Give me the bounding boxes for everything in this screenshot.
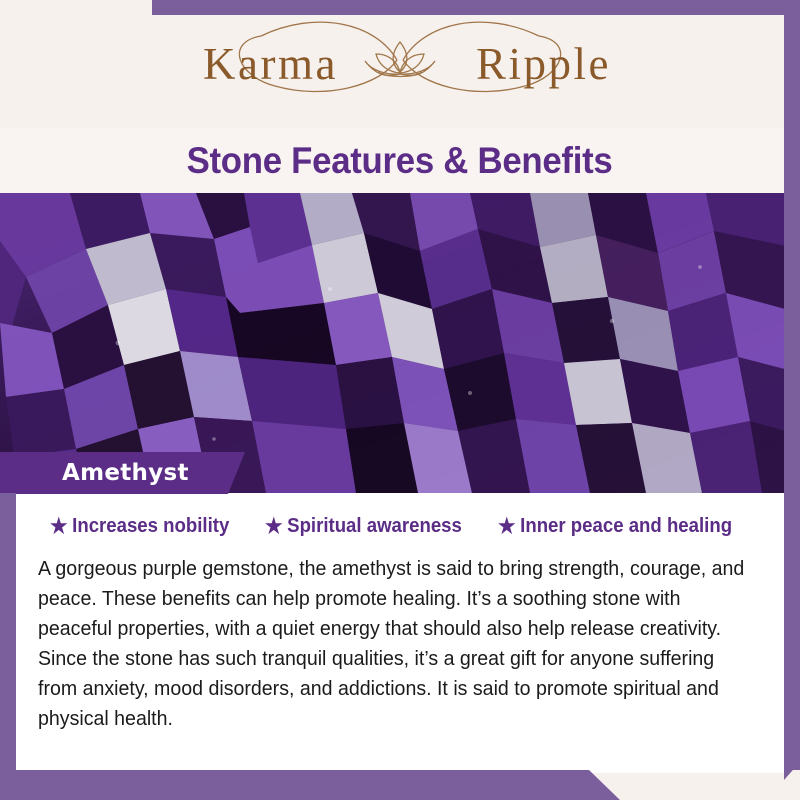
benefit-item-1: ★ Increases nobility xyxy=(50,515,229,538)
benefit-label-3: Inner peace and healing xyxy=(521,515,733,538)
benefit-item-3: ★ Inner peace and healing xyxy=(498,515,732,538)
brand-name-right: Ripple xyxy=(476,38,611,90)
stone-description: A gorgeous purple gemstone, the amethyst… xyxy=(38,554,757,734)
star-icon: ★ xyxy=(50,516,68,537)
frame-bottom-bar xyxy=(0,770,620,800)
stone-name-label: Amethyst xyxy=(62,460,189,486)
brand-logo: Karma Ripple xyxy=(0,0,800,128)
benefit-item-2: ★ Spiritual awareness xyxy=(265,515,462,538)
frame-right-bar xyxy=(784,0,800,770)
benefit-label-1: Increases nobility xyxy=(72,515,229,538)
benefit-label-2: Spiritual awareness xyxy=(287,515,462,538)
description-panel: ★ Increases nobility ★ Spiritual awarene… xyxy=(16,493,784,773)
brand-name-left: Karma xyxy=(203,38,338,90)
star-icon: ★ xyxy=(498,516,516,537)
star-icon: ★ xyxy=(265,516,283,537)
stone-name-banner: Amethyst xyxy=(0,452,250,494)
title-strip: Stone Features & Benefits xyxy=(0,128,800,193)
benefits-list: ★ Increases nobility ★ Spiritual awarene… xyxy=(38,515,762,538)
lotus-flower-icon xyxy=(365,42,435,77)
frame-left-bar xyxy=(0,493,16,800)
amethyst-photo xyxy=(0,193,800,493)
frame-right-tip xyxy=(784,762,800,780)
page-title: Stone Features & Benefits xyxy=(187,140,613,182)
product-info-card: Karma Ripple Stone Features & Benefits xyxy=(0,0,800,800)
amethyst-crystal-illustration xyxy=(0,193,800,493)
frame-top-bar xyxy=(152,0,800,15)
